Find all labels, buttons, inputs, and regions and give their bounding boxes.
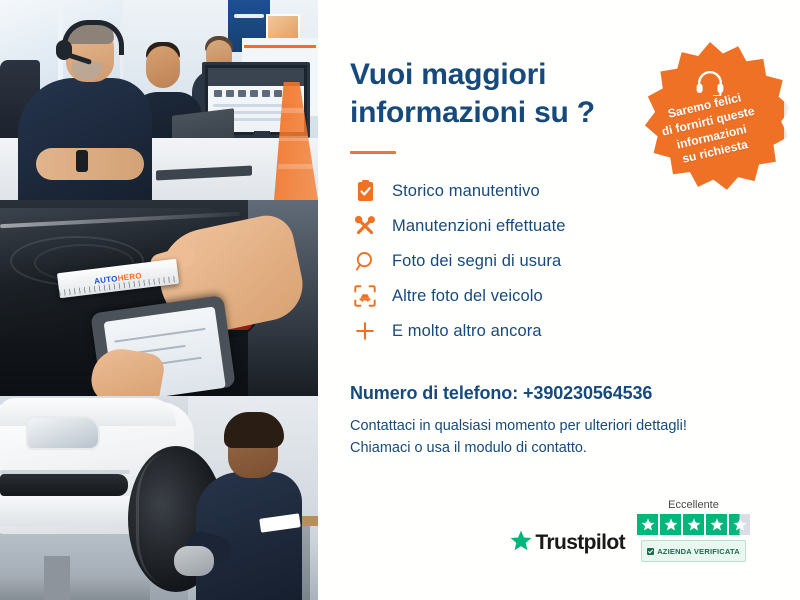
rating-star-half (729, 514, 750, 535)
verified-business-label: AZIENDA VERIFICATA (657, 547, 740, 556)
magnifier-icon (350, 251, 380, 272)
vehicle-lift-post (44, 556, 70, 600)
car-grille (0, 474, 128, 496)
trustpilot-star-rating (637, 514, 750, 535)
car-headlight (26, 416, 100, 450)
feature-label: Manutenzioni effettuate (392, 217, 566, 236)
trustpilot-wordmark: Trustpilot (535, 531, 625, 555)
technician-glove (174, 546, 214, 576)
page-title: Vuoi maggiori informazioni su ? (350, 56, 650, 133)
verified-check-icon (647, 542, 654, 560)
feature-item-vehicle-photos: Altre foto del veicolo (350, 279, 760, 314)
workshop-technician-photo (0, 396, 318, 600)
trustpilot-logo: Trustpilot (510, 530, 625, 562)
rating-star-filled (637, 514, 658, 535)
banner-stripe (234, 14, 264, 18)
rating-star-filled (660, 514, 681, 535)
rating-star-filled (683, 514, 704, 535)
headline-line-1: Vuoi maggiori (350, 58, 546, 91)
car-scan-icon (350, 285, 380, 307)
feature-label: Altre foto del veicolo (392, 287, 543, 306)
feature-item-maintenance-done: Manutenzioni effettuate (350, 209, 760, 244)
colleague-head (146, 46, 180, 88)
content-panel: Vuoi maggiori informazioni su ? Storico … (318, 0, 800, 600)
equipment-rung (278, 164, 316, 169)
contact-line-1: Contattaci in qualsiasi momento per ulte… (350, 416, 760, 438)
call-center-agent-photo (0, 0, 318, 200)
tablet-text-line (114, 328, 205, 343)
feature-label: Storico manutentivo (392, 182, 540, 201)
tools-icon (350, 215, 380, 237)
contact-info-banner: AUTOHERO (0, 0, 800, 600)
trustpilot-widget[interactable]: Trustpilot Eccellente (510, 499, 750, 562)
rating-star-filled (706, 514, 727, 535)
feature-label: E molto altro ancora (392, 322, 542, 341)
vehicle-inspection-photo: AUTOHERO (0, 200, 318, 396)
feature-list: Storico manutentivo Manutenzioni effettu… (350, 174, 760, 349)
verified-business-badge: AZIENDA VERIFICATA (641, 540, 746, 562)
agent-body (18, 78, 152, 200)
screen-icon-row (214, 90, 282, 97)
clipboard-check-icon (350, 180, 380, 202)
trustpilot-rating-label: Eccellente (668, 499, 719, 511)
agent-wristwatch (76, 150, 88, 172)
trustpilot-rating-block: Eccellente (637, 499, 750, 562)
vehicle-lift-platform (0, 576, 150, 600)
plus-icon (350, 320, 380, 342)
headline-line-2: informazioni su ? (350, 96, 595, 129)
technician-hair (224, 412, 284, 448)
feature-item-more: E molto altro ancora (350, 314, 760, 349)
title-divider (350, 151, 396, 154)
agent-arm (36, 148, 144, 180)
photo-column: AUTOHERO (0, 0, 318, 600)
phone-number-text: Numero di telefono: +390230564536 (350, 383, 760, 404)
contact-description: Contattaci in qualsiasi momento per ulte… (350, 416, 760, 460)
contact-line-2: Chiamaci o usa il modulo di contatto. (350, 438, 760, 460)
wall-accent-line (244, 45, 316, 48)
trustpilot-star-icon (510, 530, 532, 556)
promo-badge: Saremo felici di fornirti queste informa… (636, 42, 784, 190)
feature-item-wear-photos: Foto dei segni di usura (350, 244, 760, 279)
feature-label: Foto dei segni di usura (392, 252, 561, 271)
